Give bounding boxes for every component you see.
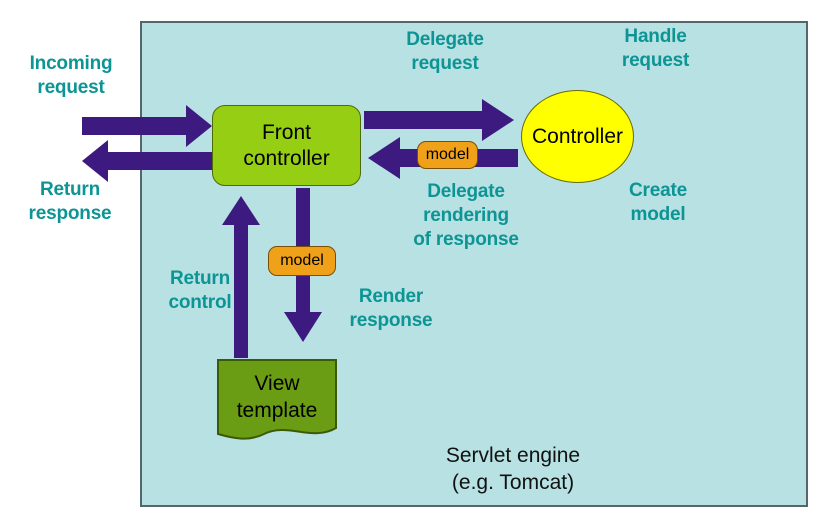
label-delegate-request: Delegate request bbox=[370, 28, 520, 76]
node-view-template-label: View template bbox=[216, 370, 338, 424]
model-badge-delegate-rendering[interactable]: model bbox=[417, 141, 478, 169]
label-return-response: Return response bbox=[0, 178, 140, 226]
node-front-controller[interactable]: Front controller bbox=[212, 105, 361, 186]
node-view-template[interactable]: View template bbox=[216, 358, 338, 444]
label-create-model: Create model bbox=[594, 179, 722, 227]
label-incoming-request: Incoming request bbox=[6, 52, 136, 100]
node-front-controller-label: Front controller bbox=[243, 120, 329, 172]
node-controller-label: Controller bbox=[532, 125, 623, 149]
servlet-engine-caption: Servlet engine (e.g. Tomcat) bbox=[388, 442, 638, 496]
model-badge-render-response[interactable]: model bbox=[268, 246, 336, 276]
node-controller[interactable]: Controller bbox=[521, 90, 634, 183]
label-delegate-rendering: Delegate rendering of response bbox=[382, 180, 550, 252]
model-badge-label: model bbox=[280, 252, 324, 270]
label-return-control: Return control bbox=[140, 267, 260, 315]
diagram-canvas: Front controller Controller View templat… bbox=[0, 0, 830, 523]
model-badge-label: model bbox=[426, 146, 470, 164]
label-render-response: Render response bbox=[328, 285, 454, 333]
label-handle-request: Handle request bbox=[588, 25, 723, 73]
